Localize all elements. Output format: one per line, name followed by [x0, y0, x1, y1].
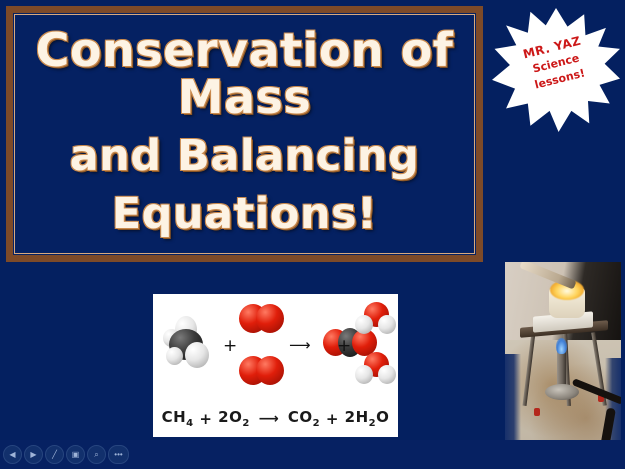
hydrogen-atom — [355, 365, 373, 384]
copy-pages-button[interactable]: ▣ — [66, 445, 85, 464]
molecule-methane — [163, 316, 219, 370]
photo-mat-edge-left — [505, 354, 521, 452]
bunsen-burner-flame — [556, 338, 567, 354]
molecule-water-1 — [355, 302, 397, 336]
lab-photo — [505, 262, 621, 452]
molecule-water-2 — [355, 352, 397, 386]
plus-sign-2: + — [337, 336, 351, 356]
hydrogen-atom — [166, 347, 183, 365]
formula-ch-sub: 4 — [186, 418, 193, 429]
hydrogen-atom — [378, 365, 396, 384]
magnifier-icon: ⌕ — [94, 451, 98, 459]
hydrogen-atom — [355, 315, 373, 334]
bunsen-burner-base — [545, 384, 579, 400]
bottom-toolbar: ◀ ▶ ╱ ▣ ⌕ ••• — [0, 440, 625, 469]
formula-ch: CH — [162, 408, 187, 426]
formula-reactant-2: 2O2 — [218, 408, 250, 429]
left-arrow-icon: ◀ — [9, 451, 15, 459]
pen-icon: ╱ — [52, 451, 57, 459]
formula-co-sub: 2 — [313, 418, 320, 429]
pages-icon: ▣ — [72, 451, 80, 459]
title-frame: Conservation of Mass and Balancing Equat… — [6, 6, 483, 262]
formula-plus-2: + — [326, 410, 339, 428]
formula-o2-coeff: 2O — [218, 408, 242, 426]
oxygen-atom — [256, 356, 284, 385]
formula-arrow: ⟶ — [256, 411, 283, 427]
chemical-formula-text: CH4 + 2O2 ⟶ CO2 + 2H2O — [159, 404, 392, 436]
formula-o2-sub: 2 — [242, 418, 249, 429]
molecule-diagram: + ⟶ + — [159, 300, 392, 404]
page-title-line-1: Conservation of Mass — [13, 27, 476, 121]
tripod-foot — [534, 408, 540, 416]
oxygen-atom — [256, 304, 284, 333]
next-slide-button[interactable]: ▶ — [24, 445, 43, 464]
hydrogen-atom — [378, 315, 396, 334]
previous-slide-button[interactable]: ◀ — [3, 445, 22, 464]
chemical-equation-card: + ⟶ + — [153, 294, 398, 437]
molecule-oxygen-2 — [239, 356, 285, 386]
starburst-badge: MR. YAZ Science lessons! — [492, 8, 620, 132]
formula-product-2: 2H2O — [345, 408, 390, 429]
plus-sign-1: + — [223, 336, 237, 356]
right-arrow-icon: ▶ — [30, 451, 36, 459]
ellipsis-icon: ••• — [114, 451, 122, 459]
page-title-line-2: and Balancing — [13, 135, 476, 179]
hydrogen-atom — [185, 342, 209, 368]
formula-h2o-coeff: 2H — [345, 408, 369, 426]
pen-annotate-button[interactable]: ╱ — [45, 445, 64, 464]
zoom-search-button[interactable]: ⌕ — [87, 445, 106, 464]
page-title-line-3: Equations! — [13, 193, 476, 237]
molecule-oxygen-1 — [239, 304, 285, 334]
formula-h2o-tail: O — [376, 408, 389, 426]
reaction-arrow: ⟶ — [289, 336, 311, 354]
formula-co: CO — [288, 408, 313, 426]
more-options-button[interactable]: ••• — [108, 445, 129, 464]
formula-product-1: CO2 — [288, 408, 320, 429]
title-block: Conservation of Mass and Balancing Equat… — [13, 27, 476, 245]
formula-reactant-1: CH4 — [162, 408, 194, 429]
formula-plus-1: + — [199, 410, 212, 428]
presentation-slide: Conservation of Mass and Balancing Equat… — [0, 0, 625, 469]
